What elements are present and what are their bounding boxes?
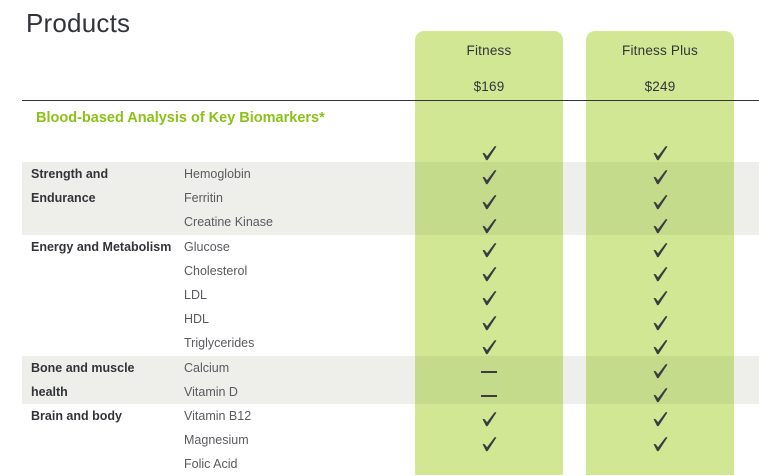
mark-fitness-4	[415, 263, 563, 287]
dash-icon	[481, 395, 497, 397]
mark-fitness-1	[415, 190, 563, 214]
check-icon	[651, 266, 670, 283]
biomarker-label: Cholesterol	[184, 259, 247, 283]
mark-fitness-plus-3	[586, 239, 734, 263]
biomarker-label: Calcium	[184, 356, 229, 380]
biomarker-label: HDL	[184, 307, 209, 331]
check-icon	[651, 242, 670, 259]
check-icon	[480, 411, 499, 428]
check-icon	[651, 314, 670, 331]
check-icon	[651, 193, 670, 210]
check-icon	[651, 145, 670, 162]
biomarker-label: Hemoglobin	[184, 162, 251, 186]
row-group-label: Strength and	[31, 162, 181, 186]
biomarker-label: LDL	[184, 283, 207, 307]
product-price-fitness-plus: $249	[586, 79, 734, 94]
check-icon	[480, 314, 499, 331]
check-icon	[480, 242, 499, 259]
mark-fitness-plus-section	[586, 142, 734, 166]
mark-fitness-plus-1	[586, 190, 734, 214]
row-group-label: health	[31, 380, 181, 404]
section-title: Blood-based Analysis of Key Biomarkers*	[36, 106, 366, 130]
product-name-fitness-plus: Fitness Plus	[586, 43, 734, 58]
check-icon	[480, 193, 499, 210]
row-group-label: Energy and Metabolism	[31, 235, 181, 259]
mark-fitness-7	[415, 336, 563, 360]
check-icon	[651, 411, 670, 428]
mark-fitness-plus-5	[586, 287, 734, 311]
check-icon	[651, 435, 670, 452]
mark-fitness-plus-8	[586, 360, 734, 384]
check-icon	[480, 169, 499, 186]
check-icon	[480, 145, 499, 162]
mark-fitness-11	[415, 432, 563, 456]
mark-fitness-plus-4	[586, 263, 734, 287]
check-icon	[651, 169, 670, 186]
mark-fitness-plus-9	[586, 384, 734, 408]
mark-fitness-9	[415, 384, 563, 408]
row-group-label: Brain and body	[31, 404, 181, 428]
row-group-label: Bone and muscle	[31, 356, 181, 380]
check-icon	[480, 266, 499, 283]
dash-icon	[481, 371, 497, 373]
mark-fitness-0	[415, 166, 563, 190]
mark-fitness-2	[415, 215, 563, 239]
biomarker-label: Magnesium	[184, 428, 249, 452]
check-icon	[651, 339, 670, 356]
biomarker-label: Creatine Kinase	[184, 210, 273, 234]
mark-fitness-5	[415, 287, 563, 311]
check-icon	[480, 339, 499, 356]
biomarker-label: Folic Acid	[184, 452, 238, 476]
mark-fitness-plus-11	[586, 432, 734, 456]
biomarker-label: Vitamin B12	[184, 404, 251, 428]
biomarker-label: Triglycerides	[184, 331, 254, 355]
mark-fitness-plus-6	[586, 311, 734, 335]
biomarker-label: Ferritin	[184, 186, 223, 210]
mark-fitness-10	[415, 408, 563, 432]
mark-fitness-plus-0	[586, 166, 734, 190]
check-icon	[480, 290, 499, 307]
biomarker-label: Glucose	[184, 235, 230, 259]
check-icon	[651, 363, 670, 380]
mark-fitness-plus-7	[586, 336, 734, 360]
check-icon	[651, 218, 670, 235]
page-title: Products	[26, 8, 130, 38]
mark-fitness-8	[415, 360, 563, 384]
mark-fitness-plus-10	[586, 408, 734, 432]
mark-fitness-plus-2	[586, 215, 734, 239]
check-icon	[480, 435, 499, 452]
row-group-label: Endurance	[31, 186, 181, 210]
check-icon	[651, 290, 670, 307]
product-price-fitness: $169	[415, 79, 563, 94]
check-icon	[480, 218, 499, 235]
mark-fitness-6	[415, 311, 563, 335]
product-name-fitness: Fitness	[415, 43, 563, 58]
header-divider	[22, 100, 759, 101]
mark-fitness-section	[415, 142, 563, 166]
mark-fitness-3	[415, 239, 563, 263]
biomarker-label: Vitamin D	[184, 380, 238, 404]
check-icon	[651, 387, 670, 404]
